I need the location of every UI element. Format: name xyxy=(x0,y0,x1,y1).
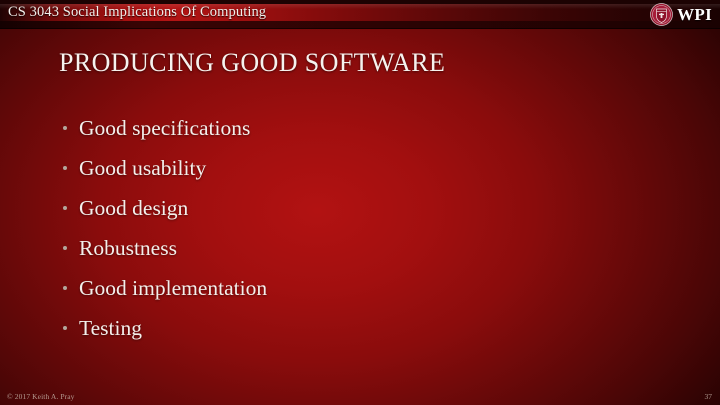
bullet-dot-icon xyxy=(63,206,67,210)
bullet-list: Good specifications Good usability Good … xyxy=(60,108,660,348)
bullet-dot-icon xyxy=(63,286,67,290)
presentation-slide: CS 3043 Social Implications Of Computing… xyxy=(0,0,720,405)
header-bottom-edge xyxy=(0,28,720,29)
list-item-label: Good design xyxy=(79,196,188,220)
bullet-dot-icon xyxy=(63,166,67,170)
list-item: Good implementation xyxy=(60,268,660,308)
slide-number: 37 xyxy=(705,392,713,401)
list-item-label: Good implementation xyxy=(79,276,267,300)
bullet-dot-icon xyxy=(63,126,67,130)
list-item: Robustness xyxy=(60,228,660,268)
wpi-wordmark: WPI xyxy=(677,3,712,26)
list-item: Good specifications xyxy=(60,108,660,148)
copyright-notice: © 2017 Keith A. Pray xyxy=(7,392,75,401)
list-item-label: Testing xyxy=(79,316,142,340)
list-item-label: Robustness xyxy=(79,236,177,260)
list-item-label: Good usability xyxy=(79,156,206,180)
bullet-dot-icon xyxy=(63,326,67,330)
list-item: Good usability xyxy=(60,148,660,188)
list-item: Good design xyxy=(60,188,660,228)
slide-title: PRODUCING GOOD SOFTWARE xyxy=(59,48,445,78)
list-item-label: Good specifications xyxy=(79,116,250,140)
bullet-dot-icon xyxy=(63,246,67,250)
wpi-logo: WPI xyxy=(650,2,712,27)
wpi-seal-icon xyxy=(650,3,673,26)
course-title: CS 3043 Social Implications Of Computing xyxy=(8,3,266,22)
list-item: Testing xyxy=(60,308,660,348)
